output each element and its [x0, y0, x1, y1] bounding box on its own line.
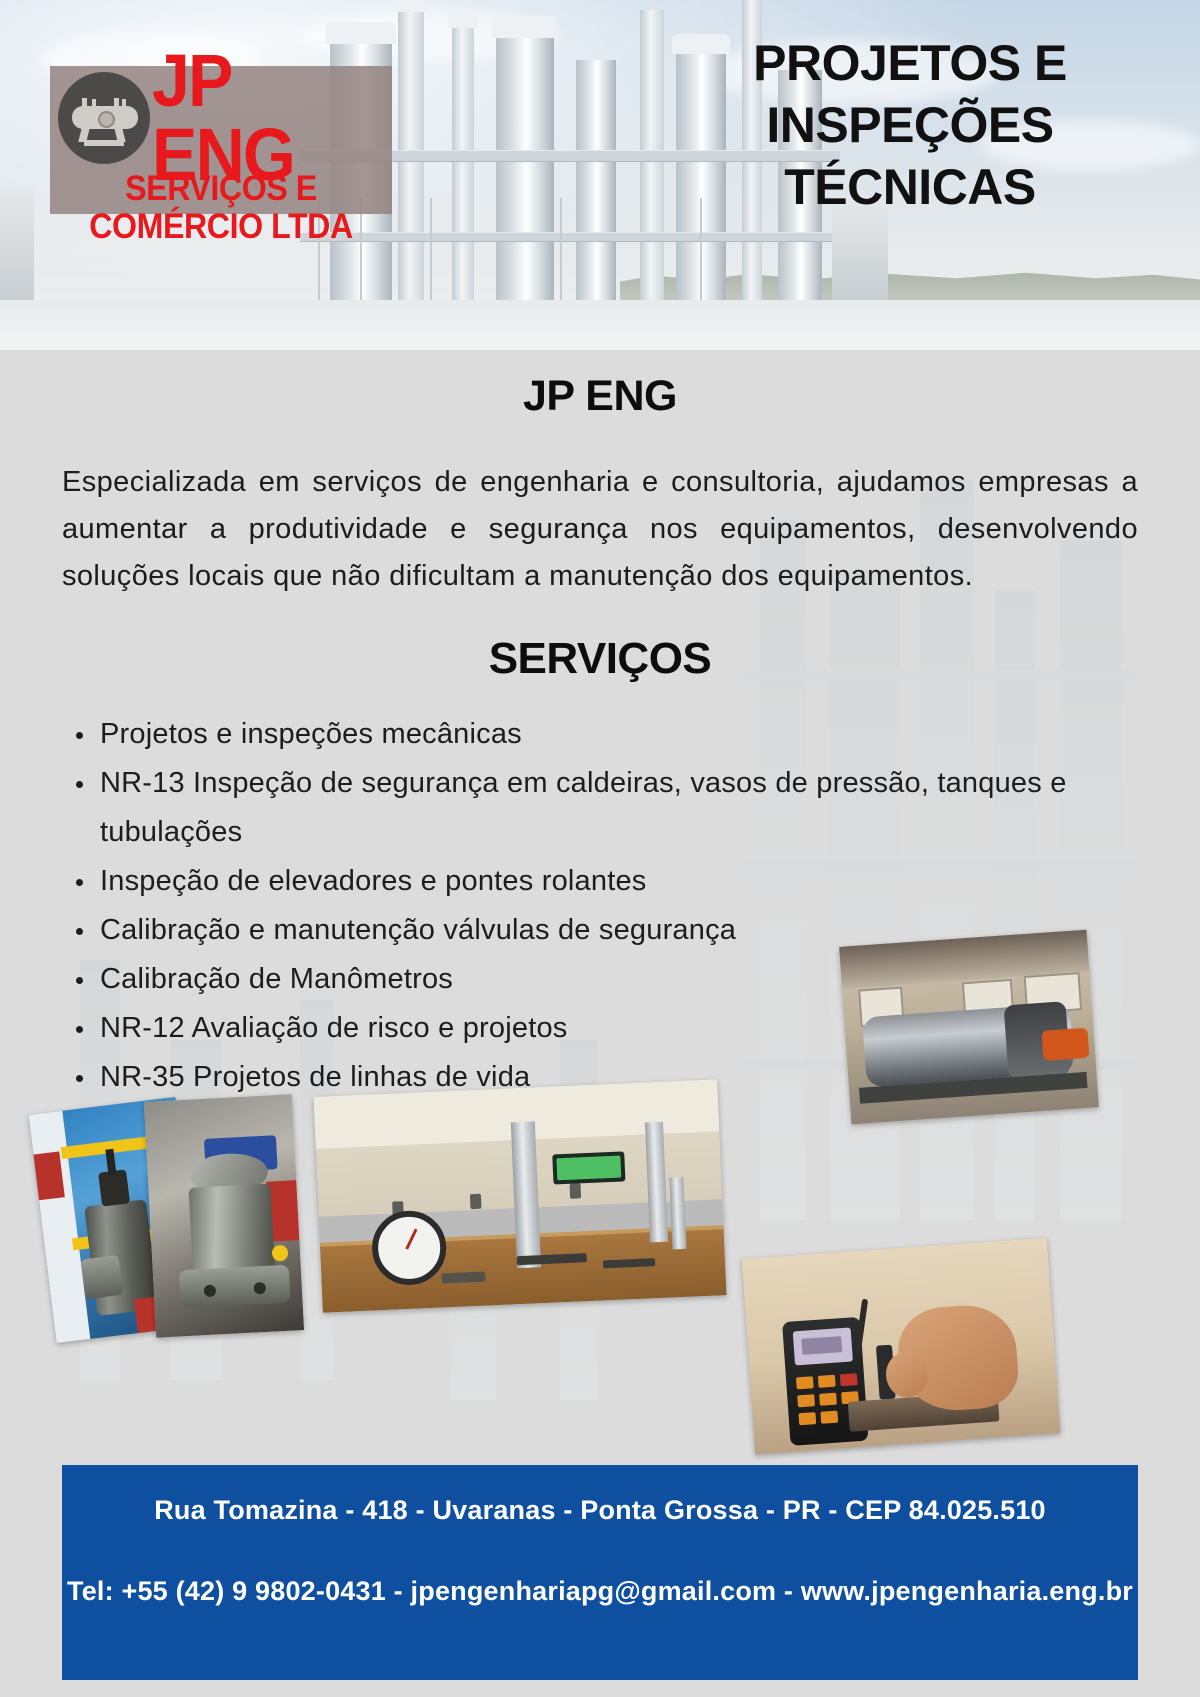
- company-logo: JP ENG SERVIÇOS E COMÉRCIO LTDA: [50, 66, 392, 214]
- footer-contact: Tel: +55 (42) 9 9802-0431 - jpengenharia…: [62, 1526, 1138, 1607]
- company-heading: JP ENG: [0, 372, 1200, 421]
- header-title-line-3: TÉCNICAS: [640, 156, 1180, 218]
- header-banner: JP ENG SERVIÇOS E COMÉRCIO LTDA PROJETOS…: [0, 0, 1200, 350]
- thickness-gauge-photo: [742, 1238, 1061, 1455]
- list-item: Projetos e inspeções mecânicas: [62, 710, 1130, 759]
- flyer-page: JP ENG SERVIÇOS E COMÉRCIO LTDA PROJETOS…: [0, 0, 1200, 1697]
- boiler-photo: [839, 930, 1099, 1125]
- logo-tagline: SERVIÇOS E COMÉRCIO LTDA: [64, 170, 379, 246]
- footer-contact-bar: Rua Tomazina - 418 - Uvaranas - Ponta Gr…: [62, 1465, 1138, 1680]
- list-item: Inspeção de elevadores e pontes rolantes: [62, 857, 1130, 906]
- intro-paragraph: Especializada em serviços de engenharia …: [62, 459, 1138, 600]
- safety-valve-photo-2: [144, 1094, 304, 1337]
- header-title-line-2: INSPEÇÕES: [640, 94, 1180, 156]
- calibration-bench-photo: [313, 1079, 726, 1312]
- header-title: PROJETOS E INSPEÇÕES TÉCNICAS: [640, 32, 1180, 218]
- footer-address: Rua Tomazina - 418 - Uvaranas - Ponta Gr…: [62, 1465, 1138, 1526]
- pressure-vessel-icon: [58, 72, 150, 164]
- ground-plane: [0, 300, 1200, 350]
- services-heading: SERVIÇOS: [0, 634, 1200, 684]
- header-title-line-1: PROJETOS E: [640, 32, 1180, 94]
- list-item: NR-13 Inspeção de segurança em caldeiras…: [62, 759, 1130, 857]
